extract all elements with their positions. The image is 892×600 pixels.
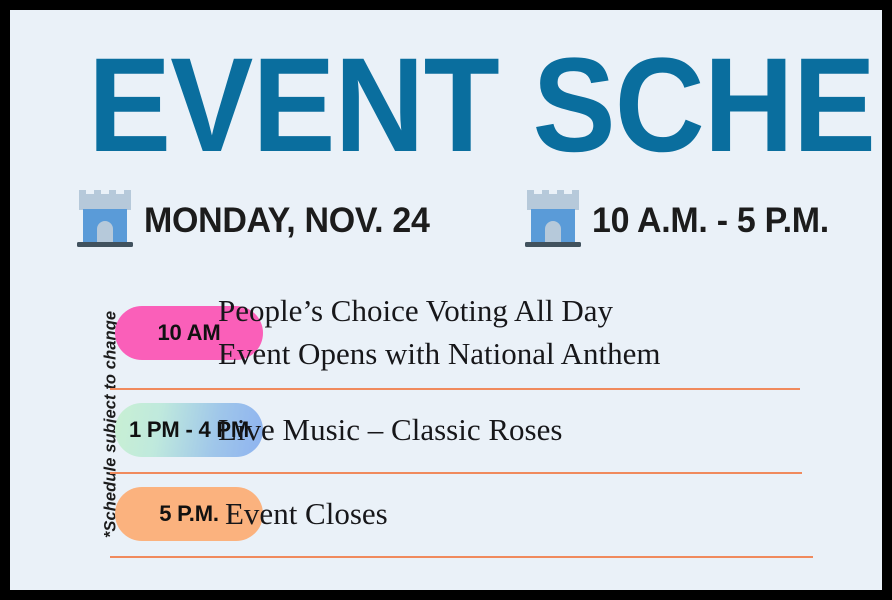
- schedule-time-cell: 10 AM: [10, 306, 200, 360]
- event-date-row: MONDAY, NOV. 24: [72, 186, 438, 255]
- schedule-list: 10 AM People’s Choice Voting All Day Eve…: [10, 278, 882, 556]
- castle-icon: [72, 186, 138, 255]
- schedule-description-line: People’s Choice Voting All Day: [218, 290, 661, 333]
- event-hours-label: 10 A.M. - 5 P.M.: [592, 201, 829, 241]
- schedule-description: People’s Choice Voting All Day Event Ope…: [200, 290, 661, 376]
- schedule-description: Event Closes: [200, 493, 388, 536]
- schedule-description: Live Music – Classic Roses: [200, 409, 562, 452]
- schedule-description-line: Event Closes: [225, 493, 388, 536]
- page-title: EVENT SCHEDULE *: [88, 48, 882, 163]
- list-item: 5 P.M. Event Closes: [10, 472, 882, 556]
- schedule-time-cell: 1 PM - 4 PM: [10, 403, 200, 457]
- row-divider: [110, 556, 813, 558]
- event-hours-row: 10 A.M. - 5 P.M.: [520, 186, 836, 255]
- schedule-description-line: Event Opens with National Anthem: [218, 333, 661, 376]
- page-title-text: EVENT SCHEDULE: [88, 48, 882, 163]
- schedule-time-cell: 5 P.M.: [10, 487, 200, 541]
- list-item: 1 PM - 4 PM Live Music – Classic Roses: [10, 388, 882, 472]
- schedule-description-line: Live Music – Classic Roses: [218, 409, 562, 452]
- castle-icon: [520, 186, 586, 255]
- poster-canvas: EVENT SCHEDULE * MONDAY, NOV. 24: [10, 10, 882, 590]
- event-date-label: MONDAY, NOV. 24: [144, 201, 430, 241]
- list-item: 10 AM People’s Choice Voting All Day Eve…: [10, 278, 882, 388]
